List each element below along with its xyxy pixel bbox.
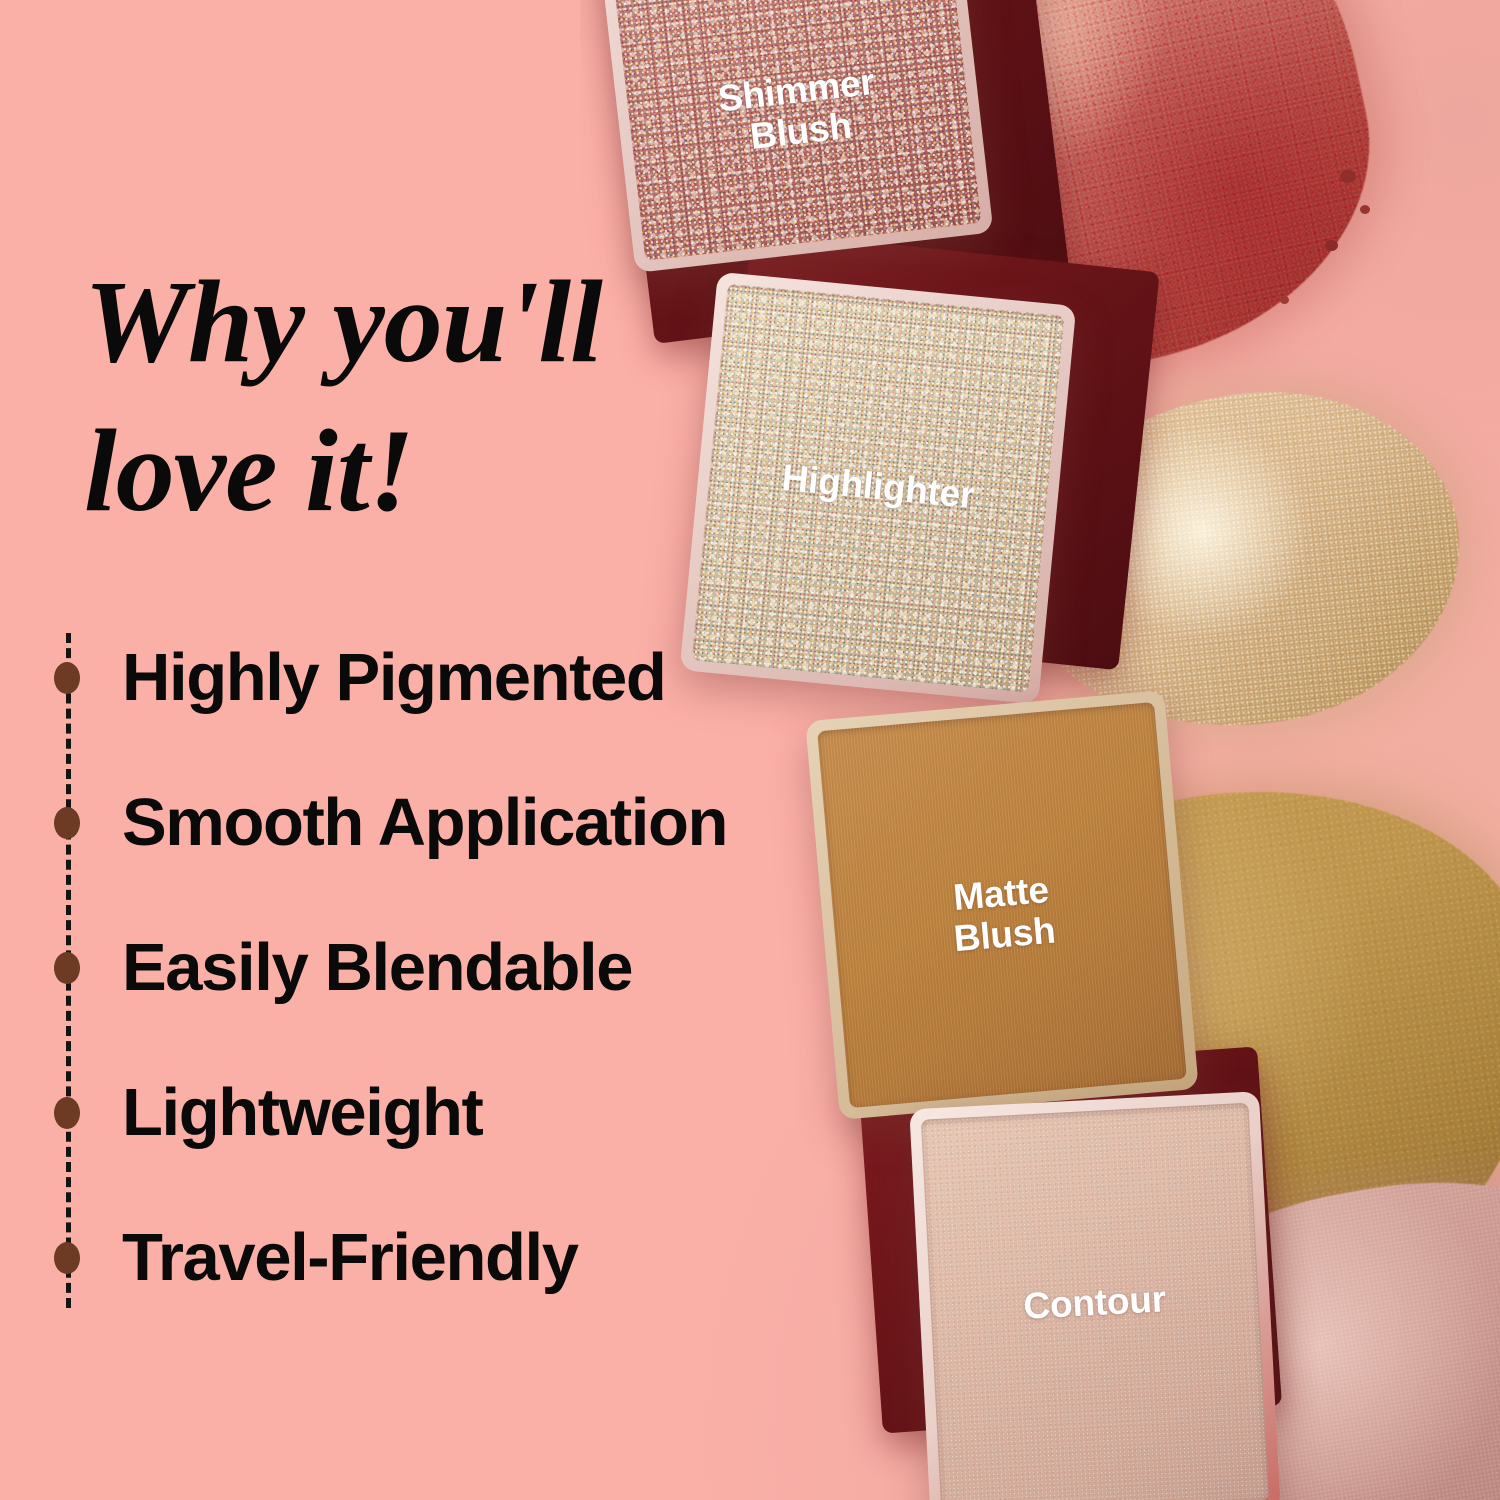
feature-item-easily-blendable: Easily Blendable (46, 895, 806, 1040)
feature-label: Smooth Application (122, 784, 727, 861)
feature-list: Highly Pigmented Smooth Application Easi… (46, 605, 806, 1330)
feature-item-smooth-application: Smooth Application (46, 750, 806, 895)
bullet-dot-icon (54, 662, 80, 694)
feature-item-highly-pigmented: Highly Pigmented (46, 605, 806, 750)
headline-line-2: love it! (84, 397, 704, 546)
bullet-dot-icon (54, 1242, 80, 1274)
feature-item-travel-friendly: Travel-Friendly (46, 1185, 806, 1330)
powder-crumb (1325, 240, 1338, 251)
powder-crumb (1340, 170, 1356, 183)
pan-shimmer-blush[interactable]: Shimmer Blush (586, 0, 993, 273)
feature-label: Highly Pigmented (122, 639, 665, 716)
powder-crumb (1360, 205, 1370, 214)
bullet-dot-icon (54, 952, 80, 984)
headline-line-1: Why you'll (84, 248, 704, 397)
feature-label: Lightweight (122, 1074, 482, 1151)
feature-label: Easily Blendable (122, 929, 632, 1006)
bullet-dot-icon (54, 1097, 80, 1129)
bullet-dot-icon (54, 807, 80, 839)
page-title: Why you'll love it! (84, 248, 704, 545)
promo-canvas: Shimmer Blush Highlighter Matte Blush (0, 0, 1500, 1500)
pan-contour[interactable]: Contour (909, 1091, 1281, 1500)
feature-label: Travel-Friendly (122, 1219, 578, 1296)
pan-matte-blush[interactable]: Matte Blush (805, 690, 1198, 1120)
powder-crumb (1280, 296, 1289, 304)
feature-item-lightweight: Lightweight (46, 1040, 806, 1185)
